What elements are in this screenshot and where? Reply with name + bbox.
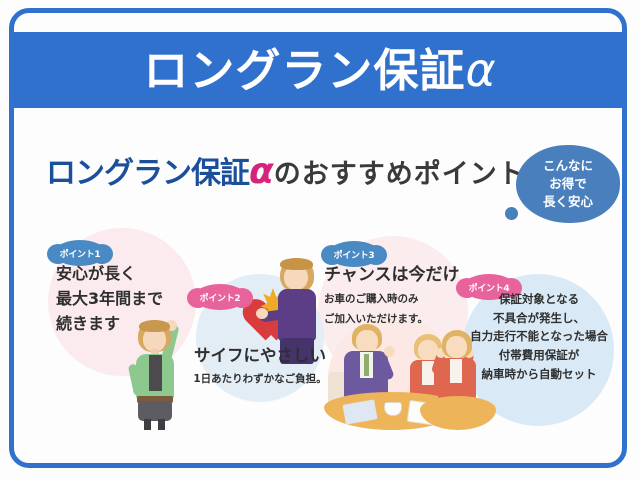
point-3-heading: チャンスは今だけ <box>324 262 460 288</box>
point-1-heading-line-2: 最大3年間まで <box>56 287 163 312</box>
point-2-heading: サイフにやさしい <box>188 343 332 369</box>
banner-title: ロングラン保証α <box>143 47 496 93</box>
banner-title-main: ロングラン保証 <box>143 44 465 97</box>
point-1-text: 安心が長く 最大3年間まで 続きます <box>56 262 163 336</box>
point-4-line-2: 不具合が発生し、 <box>466 309 612 328</box>
subtitle-brand: ロングラン保証 <box>46 156 249 191</box>
banner-title-alpha: α <box>465 43 496 97</box>
point-1-heading-line-3: 続きます <box>56 312 163 337</box>
point-4-line-3: 自力走行不能となった場合 <box>466 327 612 346</box>
speech-bubble: こんなに お得で 長く安心 <box>516 145 620 223</box>
subtitle-alpha: α <box>249 151 274 192</box>
point-3-text: チャンスは今だけ お車のご購入時のみ ご加入いただけます。 <box>324 262 460 327</box>
point-2-text: サイフにやさしい 1日あたりわずかなご負担。 <box>188 343 332 387</box>
speech-bubble-line-3: 長く安心 <box>543 193 593 211</box>
point-4-text: 保証対象となる 不具合が発生し、 自力走行不能となった場合 付帯費用保証が 納車… <box>466 290 612 383</box>
point-2-badge: ポイント2 <box>194 284 246 310</box>
point-3-subtext-line-2: ご加入いただけます。 <box>324 311 460 327</box>
point-1-heading-line-1: 安心が長く <box>56 262 163 287</box>
point-2-subtext: 1日あたりわずかなご負担。 <box>188 372 332 388</box>
speech-bubble-line-2: お得で <box>549 175 587 193</box>
speech-bubble-line-1: こんなに <box>543 157 593 175</box>
point-4-line-4: 付帯費用保証が <box>466 346 612 365</box>
point-4-line-5: 納車時から自動セット <box>466 365 612 384</box>
header-banner: ロングラン保証α <box>14 32 626 108</box>
point-3-subtext-line-1: お車のご購入時のみ <box>324 291 460 307</box>
point-4-line-1: 保証対象となる <box>466 290 612 309</box>
subtitle-rest: のおすすめポイント <box>274 159 526 190</box>
subtitle-line: ロングラン保証αのおすすめポイント <box>46 154 526 190</box>
speech-bubble-tail <box>505 207 518 220</box>
advertisement-canvas: ロングラン保証α ロングラン保証αのおすすめポイント こんなに お得で 長く安心 <box>0 0 640 480</box>
